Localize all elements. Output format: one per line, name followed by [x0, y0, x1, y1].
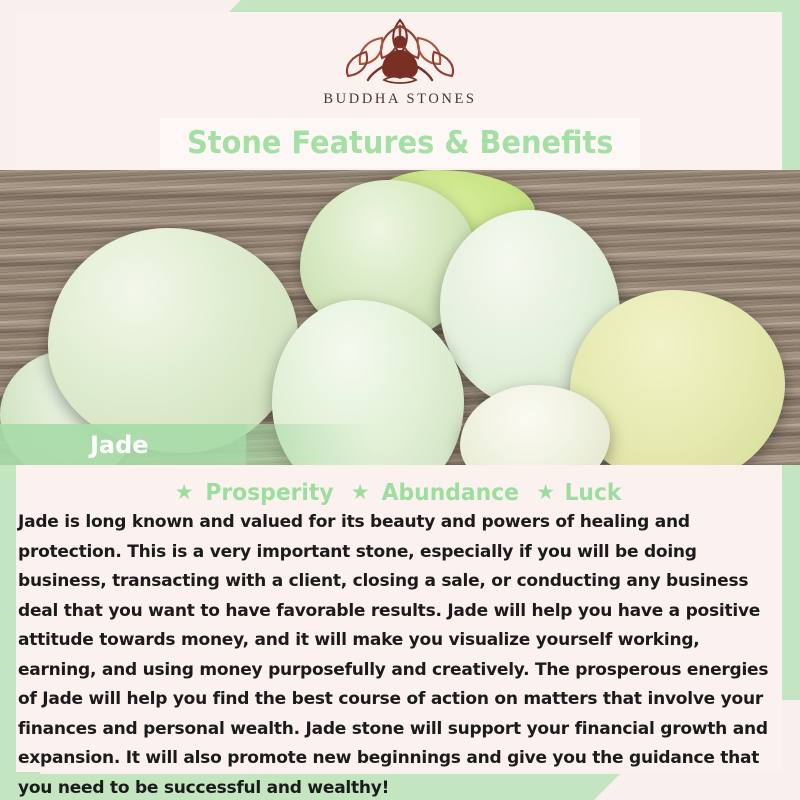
brand-logo: BUDDHA STONES — [0, 14, 800, 108]
stone-name-band: Jade — [0, 424, 246, 465]
benefit-item: ★ Abundance — [351, 480, 523, 506]
benefit-label: Prosperity — [205, 480, 333, 506]
stone-photo — [0, 170, 800, 465]
lotus-meditation-icon — [330, 14, 470, 88]
star-icon: ★ — [351, 483, 371, 503]
stone-name-label: Jade — [90, 431, 149, 459]
star-icon: ★ — [175, 483, 195, 503]
page-title: Stone Features & Benefits — [187, 125, 613, 161]
title-banner: Stone Features & Benefits — [160, 118, 640, 168]
benefit-item: ★ Prosperity — [175, 480, 337, 506]
jade-stone-1 — [48, 228, 298, 453]
brand-name: BUDDHA STONES — [0, 91, 800, 108]
benefits-row: ★ Prosperity ★ Abundance ★ Luck — [16, 480, 782, 506]
star-icon: ★ — [536, 483, 556, 503]
stone-description: Jade is long known and valued for its be… — [18, 508, 774, 800]
benefit-label: Luck — [565, 480, 622, 506]
benefit-label: Abundance — [381, 480, 518, 506]
infographic-page: BUDDHA STONES Stone Features & Benefits … — [0, 0, 800, 800]
stone-name-band-fade — [246, 424, 376, 465]
benefit-item: ★ Luck — [536, 480, 623, 506]
